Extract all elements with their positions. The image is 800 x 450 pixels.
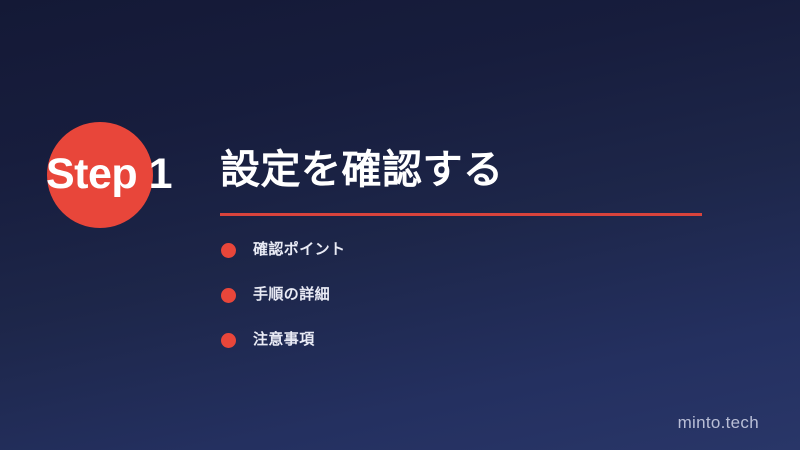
list-item: 確認ポイント [221,238,681,262]
bullet-dot-icon [221,288,236,303]
list-item-label: 注意事項 [253,328,315,352]
watermark-brand: minto.tech [678,413,759,433]
list-item-label: 確認ポイント [253,238,345,262]
heading-block: 設定を確認する [220,144,720,216]
bullet-list: 確認ポイント 手順の詳細 注意事項 [221,238,681,373]
list-item-label: 手順の詳細 [253,283,330,307]
step-number-label: Step 1 [46,144,236,204]
step-badge: Step 1 [47,122,181,228]
list-item: 手順の詳細 [221,283,681,307]
bullet-dot-icon [221,333,236,348]
bullet-dot-icon [221,243,236,258]
presentation-slide: Step 1 設定を確認する 確認ポイント 手順の詳細 注意事項 minto.t… [0,0,800,450]
list-item: 注意事項 [221,328,681,352]
title-underline-rule [220,213,702,216]
slide-title: 設定を確認する [220,144,720,196]
